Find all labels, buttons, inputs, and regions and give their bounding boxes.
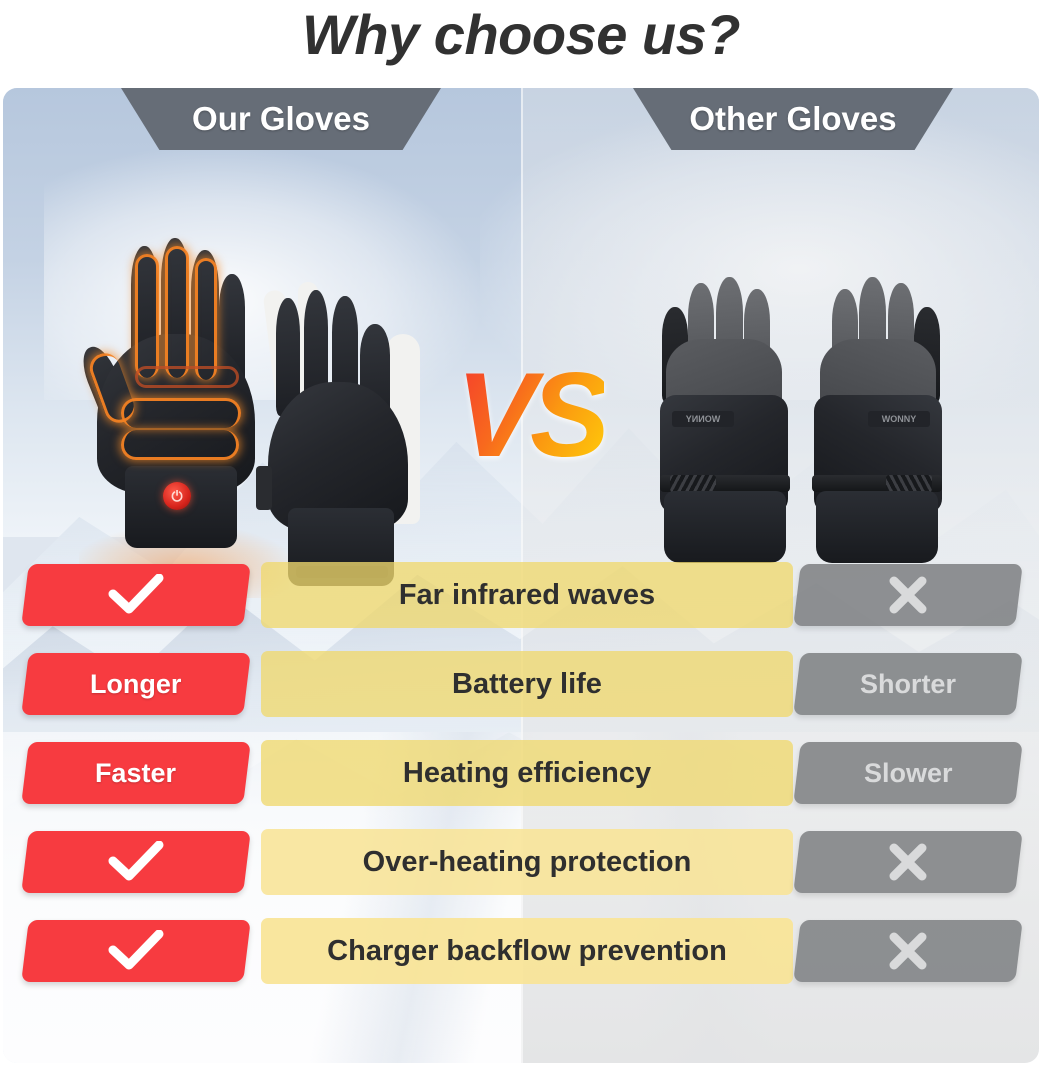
our-glove-front — [258, 290, 430, 590]
ours-value: Longer — [90, 669, 182, 700]
page-title: Why choose us? — [0, 2, 1042, 67]
other-value: Shorter — [860, 669, 956, 700]
table-row: Far infrared waves — [3, 558, 1039, 647]
feature-label-bar: Heating efficiency — [261, 740, 793, 806]
product-image-our-gloves: ⏻ — [73, 238, 433, 608]
column-header-other: Other Gloves — [633, 88, 953, 150]
comparison-panel: Our Gloves Other Gloves — [3, 88, 1039, 1063]
feature-label-bar: Charger backflow prevention — [261, 918, 793, 984]
heating-trace — [165, 246, 189, 378]
check-icon — [108, 930, 164, 972]
feature-label: Far infrared waves — [399, 579, 655, 612]
cross-icon — [887, 574, 929, 616]
comparison-rows: Far infrared waves Longer Battery life S… — [3, 558, 1039, 1003]
cross-icon — [887, 930, 929, 972]
power-button-icon: ⏻ — [163, 482, 191, 510]
ours-badge — [21, 831, 251, 893]
heating-trace — [121, 398, 241, 428]
versus-label: VS — [456, 346, 604, 484]
heating-trace — [135, 254, 159, 378]
feature-label-bar: Over-heating protection — [261, 829, 793, 895]
ours-badge: Longer — [21, 653, 251, 715]
product-image-other-gloves: WONNY WONNY — [658, 283, 948, 573]
strap-hatch — [670, 475, 716, 492]
ours-badge: Faster — [21, 742, 251, 804]
column-header-ours-label: Our Gloves — [192, 100, 370, 138]
brand-tag: WONNY — [868, 411, 930, 427]
feature-label: Heating efficiency — [403, 757, 651, 790]
versus-graphic: VS — [425, 340, 635, 490]
other-badge — [793, 920, 1023, 982]
feature-label: Battery life — [452, 668, 602, 701]
feature-label: Charger backflow prevention — [327, 935, 727, 968]
glove-cuff — [816, 491, 938, 563]
ours-value: Faster — [95, 758, 176, 789]
table-row: Longer Battery life Shorter — [3, 647, 1039, 736]
brand-tag: WONNY — [672, 411, 734, 427]
column-header-other-label: Other Gloves — [689, 100, 896, 138]
ours-badge — [21, 920, 251, 982]
table-row: Charger backflow prevention — [3, 914, 1039, 1003]
glove-tab — [256, 466, 272, 510]
other-badge — [793, 564, 1023, 626]
power-glyph: ⏻ — [171, 488, 182, 505]
comparison-infographic: Why choose us? Our Gloves Other Gloves — [0, 0, 1042, 1080]
heating-trace — [121, 430, 239, 460]
feature-label-bar: Battery life — [261, 651, 793, 717]
our-glove-back: ⏻ — [91, 248, 269, 548]
other-badge: Slower — [793, 742, 1023, 804]
check-icon — [108, 574, 164, 616]
other-badge — [793, 831, 1023, 893]
heating-trace — [195, 258, 217, 380]
cross-icon — [887, 841, 929, 883]
table-row: Over-heating protection — [3, 825, 1039, 914]
heating-trace — [135, 366, 239, 388]
table-row: Faster Heating efficiency Slower — [3, 736, 1039, 825]
feature-label-bar: Far infrared waves — [261, 562, 793, 628]
glove-cuff — [664, 491, 786, 563]
check-icon — [108, 841, 164, 883]
column-header-ours: Our Gloves — [121, 88, 441, 150]
feature-label: Over-heating protection — [363, 846, 692, 879]
strap-hatch — [886, 475, 932, 492]
other-badge: Shorter — [793, 653, 1023, 715]
other-glove-right: WONNY — [808, 283, 944, 568]
other-value: Slower — [864, 758, 953, 789]
other-glove-left: WONNY — [658, 283, 794, 568]
ours-badge — [21, 564, 251, 626]
